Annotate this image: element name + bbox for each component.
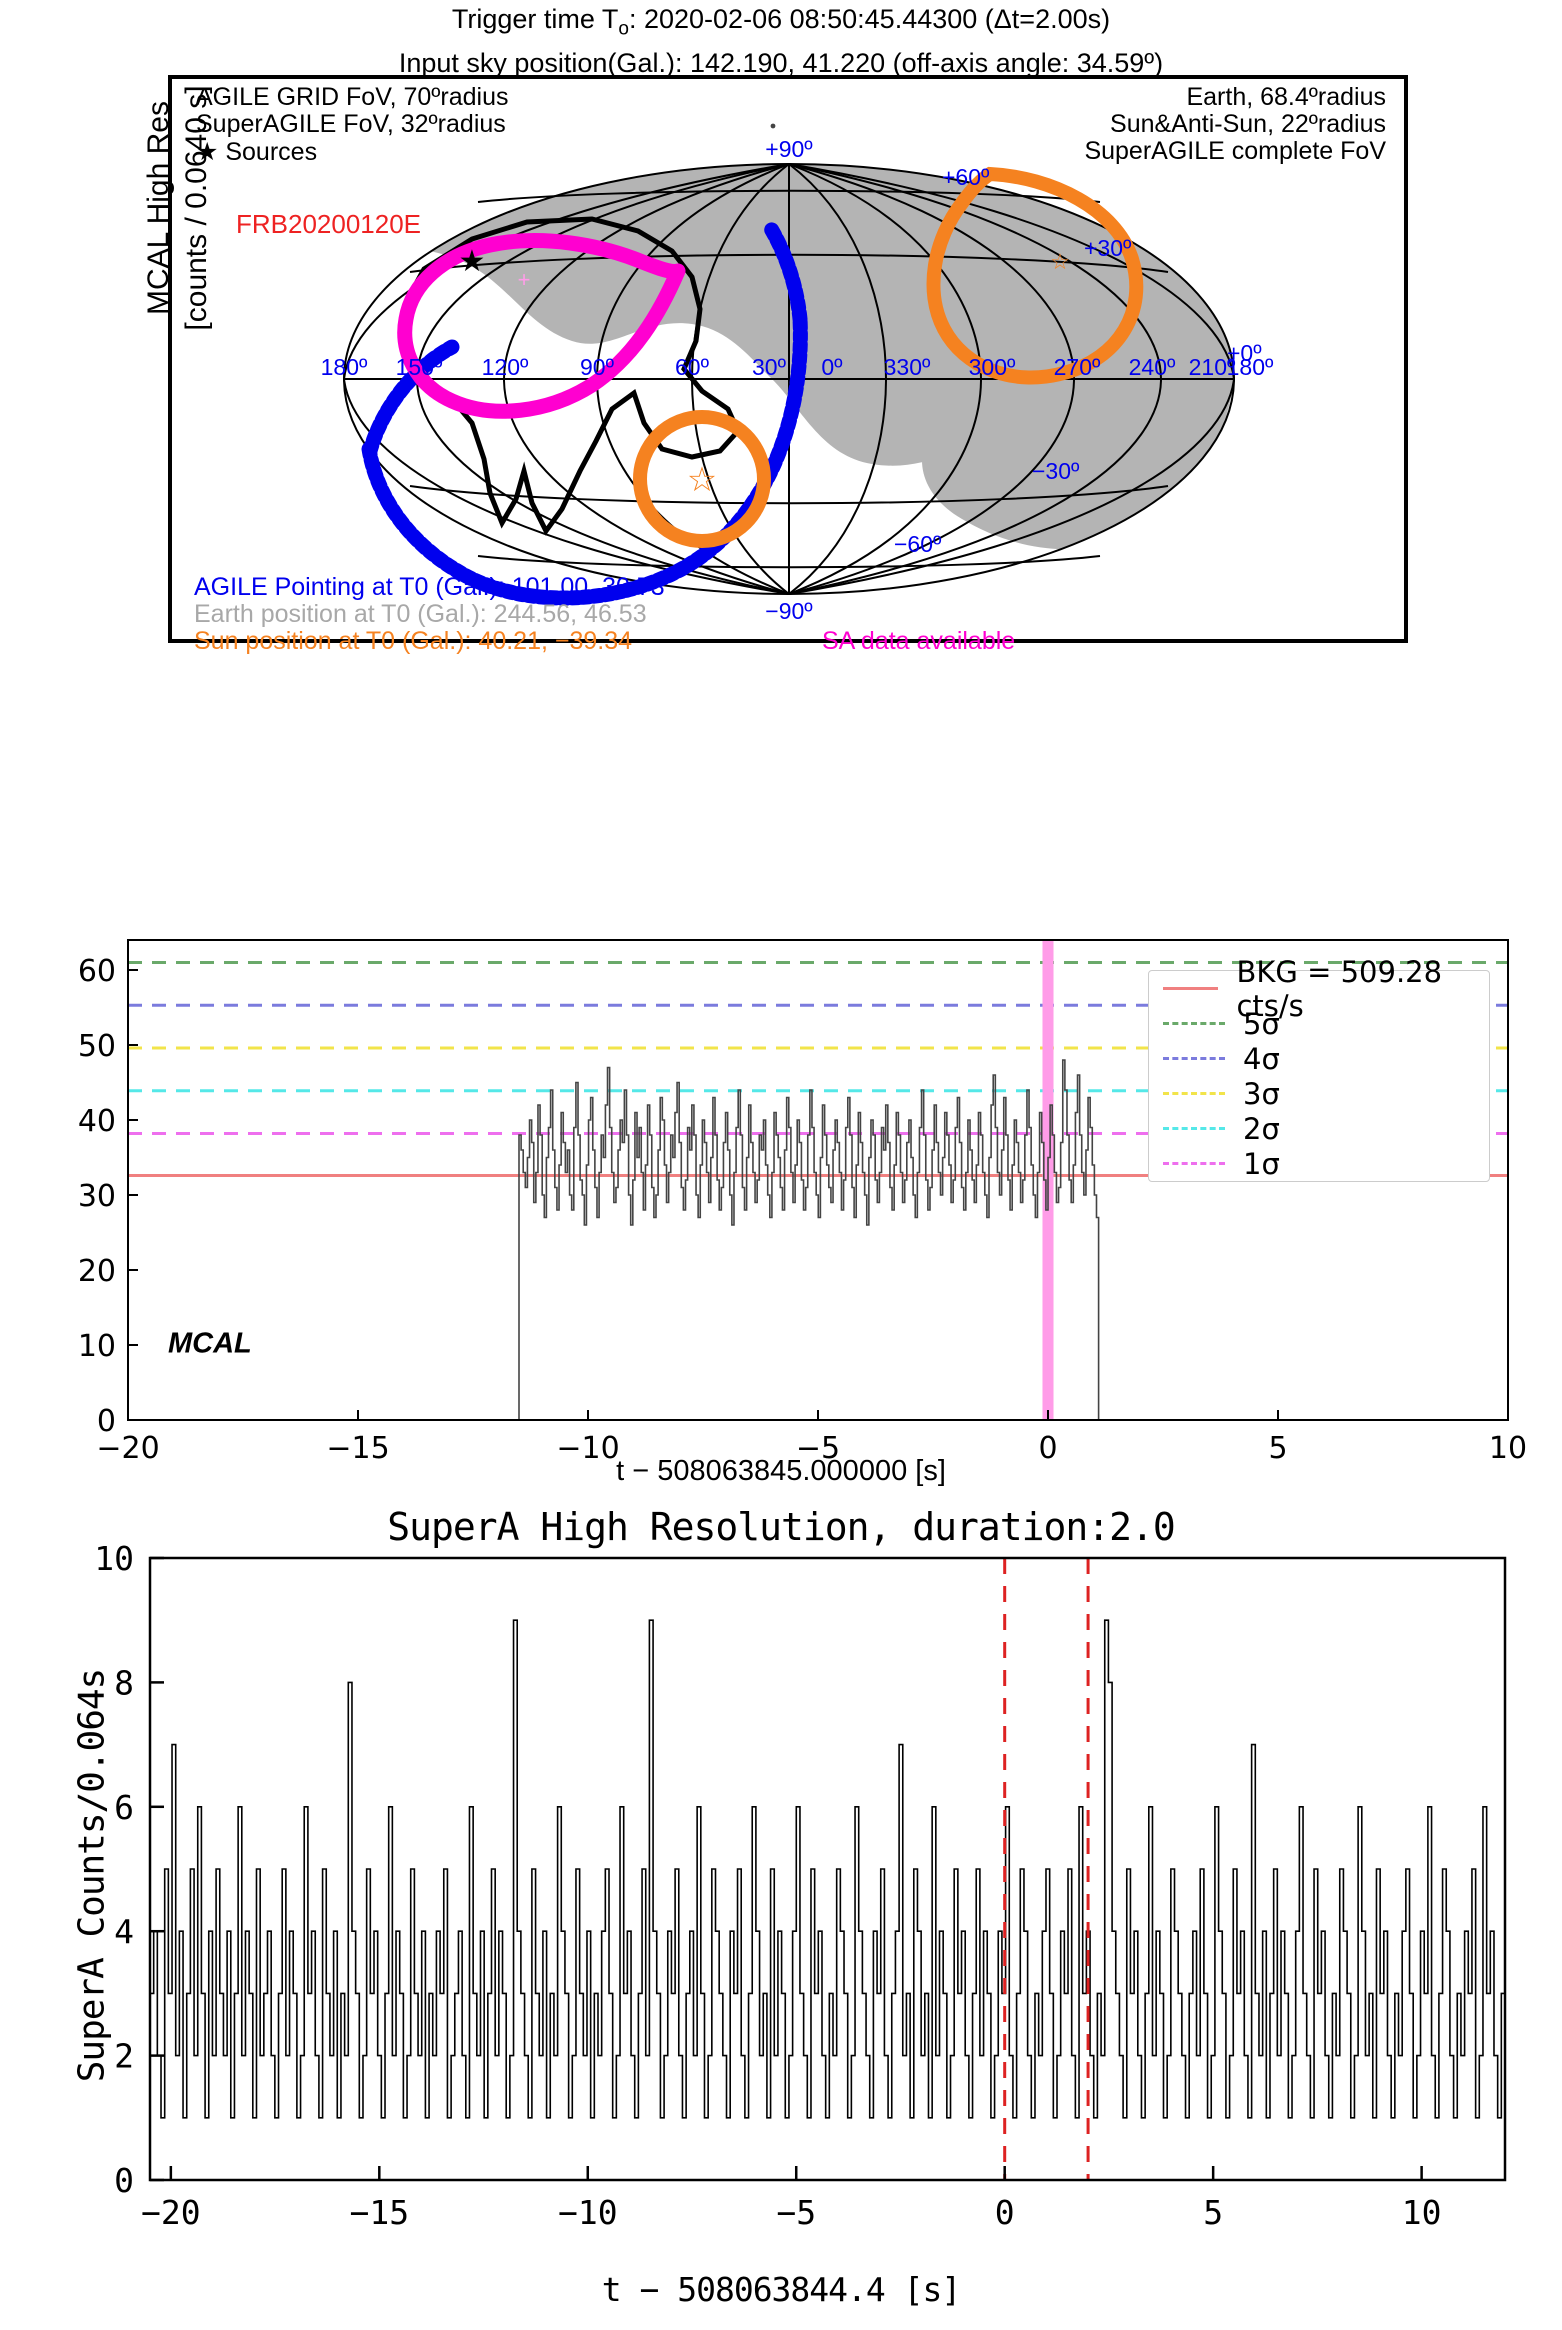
- sun-position-line: Sun position at T0 (Gal.): 40.21, −39.34: [194, 627, 632, 656]
- earth-position-prefix: Earth position at T: [194, 600, 396, 628]
- legend-swatch-2sigma: [1163, 1127, 1225, 1130]
- supera-axes-frame: [150, 1558, 1505, 2180]
- supera-x-axis-label: t − 508063844.4 [s]: [0, 2270, 1562, 2309]
- legend-row-1sigma: 1σ: [1149, 1146, 1489, 1181]
- mcal-ytick-label: 60: [78, 954, 116, 989]
- legend-row-2sigma: 2σ: [1149, 1111, 1489, 1146]
- supera-lightcurve-plot: −20−15−10−505100246810: [0, 1540, 1562, 2260]
- agile-pointing-sub: 0: [415, 573, 429, 601]
- trigger-time-rest: : 2020-02-06 08:50:45.44300 (Δt=2.00s): [629, 4, 1110, 34]
- lon-label-240: 240º: [1129, 354, 1176, 380]
- mcal-ytick-label: 20: [78, 1254, 116, 1289]
- legend-swatch-1sigma: [1163, 1162, 1225, 1165]
- legend-label-5sigma: 5σ: [1243, 1007, 1280, 1041]
- mcal-panel-tag: MCAL: [168, 1328, 252, 1360]
- supera-xtick-label: −10: [558, 2193, 618, 2232]
- lon-label-330: 330º: [884, 354, 931, 380]
- legend-swatch-4sigma: [1163, 1057, 1225, 1060]
- mcal-ytick-label: 30: [78, 1179, 116, 1214]
- supera-xtick-label: 5: [1203, 2193, 1223, 2232]
- lon-label-90: 90º: [580, 354, 615, 380]
- minor-source-dot: [771, 124, 776, 129]
- lon-label-180l: 180º: [321, 354, 368, 380]
- sun-center-marker: ☆: [1050, 249, 1070, 274]
- supera-xtick-label: 10: [1402, 2193, 1442, 2232]
- trigger-time-prefix: Trigger time T: [452, 4, 619, 34]
- legend-label-1sigma: 1σ: [1243, 1147, 1280, 1181]
- source-star-icon: ★: [459, 245, 486, 278]
- legend-row-bkg: BKG = 509.28 cts/s: [1149, 971, 1489, 1006]
- earth-position-rest: (Gal.): 244.56, 46.53: [410, 600, 646, 628]
- figure-page: Trigger time To: 2020-02-06 08:50:45.443…: [0, 0, 1562, 2330]
- legend-row-4sigma: 4σ: [1149, 1041, 1489, 1076]
- legend-row-3sigma: 3σ: [1149, 1076, 1489, 1111]
- lon-label-120: 120º: [482, 354, 529, 380]
- mcal-y-axis-label-line1: MCAL High Res: [140, 28, 178, 388]
- anti-sun-center-marker: ☆: [687, 461, 717, 499]
- supera-ytick-label: 2: [114, 2037, 134, 2076]
- sa-data-available-note: SA data available: [822, 627, 1015, 656]
- lon-label-270: 270º: [1054, 354, 1101, 380]
- supera-ytick-label: 10: [94, 1540, 134, 1578]
- mcal-ytick-label: 10: [78, 1329, 116, 1364]
- mcal-ytick-label: 40: [78, 1104, 116, 1139]
- supera-ytick-label: 8: [114, 1663, 134, 1702]
- sun-position-rest: (Gal.): 40.21, −39.34: [395, 627, 632, 655]
- lon-label-60: 60º: [675, 354, 710, 380]
- legend-label-2sigma: 2σ: [1243, 1112, 1280, 1146]
- agile-pointing-rest: (Gal.): 101.00, 30.73: [428, 573, 664, 601]
- lon-label-300: 300º: [969, 354, 1016, 380]
- figure-header: Trigger time To: 2020-02-06 08:50:45.443…: [0, 2, 1562, 80]
- lon-label-150: 150º: [396, 354, 443, 380]
- supera-ytick-label: 6: [114, 1788, 134, 1827]
- agile-pointing-prefix: AGILE Pointing at T: [194, 573, 415, 601]
- aitoff-projection: ☆ ☆ + ★ +90º +60º +30º +0º −30º −60º −90…: [172, 79, 1406, 641]
- earth-position-sub: 0: [396, 600, 410, 628]
- mcal-legend: BKG = 509.28 cts/s 5σ 4σ 3σ 2σ 1σ: [1148, 970, 1490, 1182]
- agile-pointing-line: AGILE Pointing at T0 (Gal.): 101.00, 30.…: [194, 573, 665, 602]
- legend-swatch-3sigma: [1163, 1092, 1225, 1095]
- supera-xtick-label: −15: [350, 2193, 410, 2232]
- lat-label-m90: −90º: [765, 598, 813, 624]
- supera-ytick-label: 4: [114, 1912, 134, 1951]
- legend-swatch-bkg: [1163, 987, 1218, 990]
- trigger-time-subscript: o: [618, 18, 629, 39]
- mcal-histogram: [519, 1060, 1099, 1420]
- lon-label-0: 0º: [821, 354, 843, 380]
- sun-position-sub: 0: [381, 627, 395, 655]
- legend-swatch-5sigma: [1163, 1022, 1225, 1025]
- lat-label-p60: +60º: [942, 164, 990, 190]
- supera-ytick-label: 0: [114, 2161, 134, 2200]
- lon-label-180r: 180º: [1227, 354, 1274, 380]
- trigger-time-line: Trigger time To: 2020-02-06 08:50:45.443…: [0, 2, 1562, 46]
- sun-position-prefix: Sun position at T: [194, 627, 381, 655]
- lat-label-p90: +90º: [765, 136, 813, 162]
- mcal-ytick-label: 50: [78, 1029, 116, 1064]
- lat-label-p30: +30º: [1084, 235, 1132, 261]
- earth-position-line: Earth position at T0 (Gal.): 244.56, 46.…: [194, 600, 647, 629]
- lon-label-30: 30º: [752, 354, 787, 380]
- supera-xtick-label: −20: [141, 2193, 201, 2232]
- supera-xtick-label: −5: [776, 2193, 816, 2232]
- legend-label-4sigma: 4σ: [1243, 1042, 1280, 1076]
- lat-label-m60: −60º: [894, 531, 942, 557]
- mcal-ytick-label: 0: [97, 1404, 116, 1439]
- frb-source-label: FRB20200120E: [236, 209, 421, 240]
- lat-label-m30: −30º: [1032, 458, 1080, 484]
- mcal-y-axis-label: MCAL High Res [counts / 0.0640 s]: [140, 28, 216, 388]
- sky-map-panel: AGILE GRID FoV, 70ºradius SuperAGILE FoV…: [168, 75, 1408, 643]
- supera-histogram: [150, 1620, 1505, 2180]
- legend-label-3sigma: 3σ: [1243, 1077, 1280, 1111]
- supera-xtick-label: 0: [995, 2193, 1015, 2232]
- pointing-center-marker: +: [518, 267, 531, 292]
- mcal-x-axis-label: t − 508063845.000000 [s]: [0, 1455, 1562, 1488]
- mcal-y-axis-label-line2: [counts / 0.0640 s]: [178, 28, 216, 388]
